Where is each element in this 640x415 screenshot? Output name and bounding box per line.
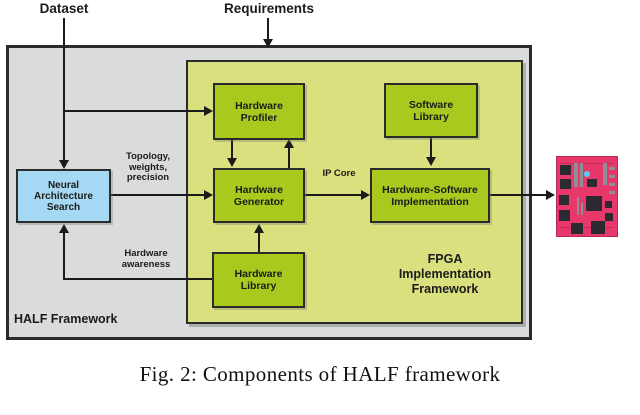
hardware-awareness-edge-label: Hardware awareness [106,249,186,270]
hardware-awareness-line [63,278,213,280]
requirements-arrowhead [263,39,273,48]
hardware-awareness-riser [63,232,65,279]
topology-edge-label: Topology, weights, precision [112,152,184,184]
dataset-to-profiler-line [63,110,207,112]
swlib-to-impl-arrowhead [426,157,436,166]
fpga-framework-title: FPGA Implementation Framework [370,252,520,297]
half-framework-title: HALF Framework [14,312,174,326]
impl-to-board-arrowhead [546,190,555,200]
dataset-to-nas-arrowhead [59,160,69,169]
hardware-generator-box[interactable]: Hardware Generator [213,168,305,223]
hardware-profiler-label: Hardware Profiler [235,100,283,124]
swlib-to-impl-line [430,138,432,159]
profiler-to-generator-arrowhead [227,158,237,167]
hardware-software-implementation-label: Hardware-Software Implementation [382,184,478,208]
impl-to-board-line [490,194,549,196]
dataset-to-nas-line [63,18,65,164]
library-to-generator-arrowhead [254,224,264,233]
generator-to-impl-line [305,194,363,196]
profiler-to-generator-line [231,140,233,160]
dataset-input-label: Dataset [20,1,108,16]
dataset-to-profiler-arrowhead [204,106,213,116]
nas-to-generator-line [111,194,207,196]
neural-architecture-search-box[interactable]: Neural Architecture Search [16,169,111,223]
generator-to-profiler-line [288,146,290,168]
hardware-profiler-box[interactable]: Hardware Profiler [213,83,305,140]
figure-caption: Fig. 2: Components of HALF framework [0,362,640,387]
requirements-input-label: Requirements [206,1,332,16]
hardware-awareness-arrowhead [59,224,69,233]
hardware-library-label: Hardware Library [235,268,283,292]
ip-core-edge-label: IP Core [312,169,366,180]
library-to-generator-line [258,232,260,254]
software-library-label: Software Library [409,99,453,123]
hardware-library-box[interactable]: Hardware Library [212,252,305,308]
figure-stage: Neural Architecture Search Hardware Prof… [0,0,640,415]
generator-to-impl-arrowhead [361,190,370,200]
hardware-generator-label: Hardware Generator [234,184,284,208]
neural-architecture-search-label: Neural Architecture Search [34,180,93,213]
fpga-board-image [556,156,618,237]
nas-to-generator-arrowhead [204,190,213,200]
hardware-software-implementation-box[interactable]: Hardware-Software Implementation [370,168,490,223]
generator-to-profiler-arrowhead [284,139,294,148]
software-library-box[interactable]: Software Library [384,83,478,138]
